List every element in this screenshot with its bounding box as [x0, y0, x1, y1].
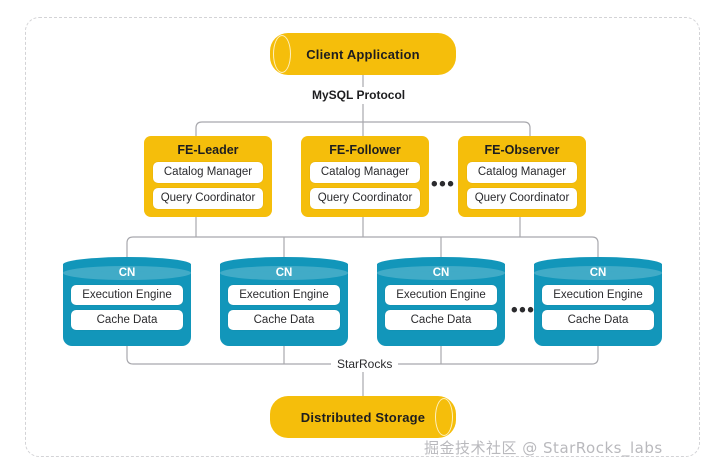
node-distributed-storage[interactable]: Distributed Storage: [270, 396, 456, 438]
cn-2-cache-data[interactable]: Cache Data: [228, 310, 340, 330]
node-cn-3[interactable]: CN Execution Engine Cache Data: [377, 257, 505, 346]
fe-layer-ellipsis: •••: [431, 180, 455, 190]
fe-leader-query-coordinator[interactable]: Query Coordinator: [153, 188, 263, 209]
cylinder-cap-icon: [435, 398, 453, 436]
cn-3-execution-engine[interactable]: Execution Engine: [385, 285, 497, 305]
fe-follower-title: FE-Follower: [310, 141, 420, 159]
node-fe-follower[interactable]: FE-Follower Catalog Manager Query Coordi…: [301, 136, 429, 217]
node-fe-leader[interactable]: FE-Leader Catalog Manager Query Coordina…: [144, 136, 272, 217]
fe-follower-query-coordinator[interactable]: Query Coordinator: [310, 188, 420, 209]
client-application-label: Client Application: [306, 47, 420, 62]
node-fe-observer[interactable]: FE-Observer Catalog Manager Query Coordi…: [458, 136, 586, 217]
node-client-application[interactable]: Client Application: [270, 33, 456, 75]
watermark-text: 掘金技术社区 @ StarRocks_labs: [424, 437, 663, 458]
fe-observer-catalog-manager[interactable]: Catalog Manager: [467, 162, 577, 183]
label-starrocks-system: StarRocks: [331, 356, 398, 372]
diagram-canvas: Client Application MySQL Protocol FE-Lea…: [0, 0, 720, 472]
cn-2-execution-engine[interactable]: Execution Engine: [228, 285, 340, 305]
cn-1-cache-data[interactable]: Cache Data: [71, 310, 183, 330]
node-cn-4[interactable]: CN Execution Engine Cache Data: [534, 257, 662, 346]
cylinder-cap-icon: [273, 35, 291, 73]
cn-4-execution-engine[interactable]: Execution Engine: [542, 285, 654, 305]
cn-2-title: CN: [220, 265, 348, 281]
fe-observer-title: FE-Observer: [467, 141, 577, 159]
cn-layer-ellipsis: •••: [511, 306, 535, 316]
cn-4-cache-data[interactable]: Cache Data: [542, 310, 654, 330]
label-mysql-protocol: MySQL Protocol: [306, 87, 411, 103]
distributed-storage-label: Distributed Storage: [301, 410, 425, 425]
node-cn-2[interactable]: CN Execution Engine Cache Data: [220, 257, 348, 346]
fe-observer-query-coordinator[interactable]: Query Coordinator: [467, 188, 577, 209]
cn-4-title: CN: [534, 265, 662, 281]
node-cn-1[interactable]: CN Execution Engine Cache Data: [63, 257, 191, 346]
fe-leader-title: FE-Leader: [153, 141, 263, 159]
bus-cn-top: [127, 237, 598, 257]
cn-1-execution-engine[interactable]: Execution Engine: [71, 285, 183, 305]
cn-3-cache-data[interactable]: Cache Data: [385, 310, 497, 330]
cn-3-title: CN: [377, 265, 505, 281]
fe-follower-catalog-manager[interactable]: Catalog Manager: [310, 162, 420, 183]
fe-leader-catalog-manager[interactable]: Catalog Manager: [153, 162, 263, 183]
cn-1-title: CN: [63, 265, 191, 281]
